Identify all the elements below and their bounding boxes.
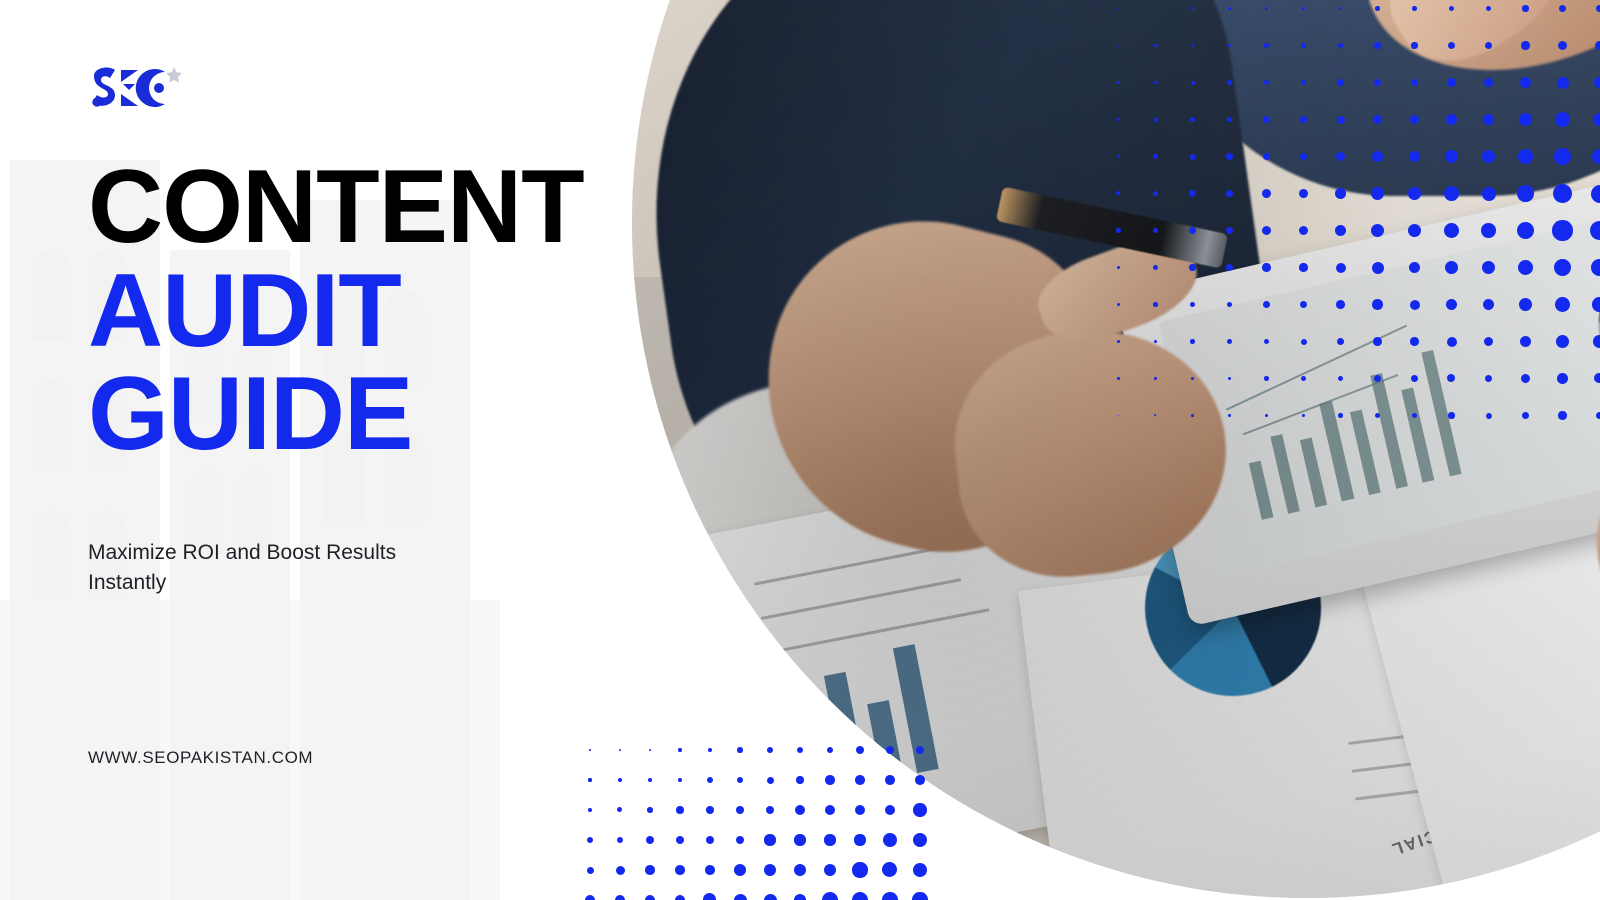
headline-line-2: AUDIT — [88, 264, 688, 360]
star-icon — [166, 67, 182, 83]
headline: CONTENT AUDIT GUIDE — [88, 160, 688, 463]
website-url[interactable]: WWW.SEOPAKISTAN.COM — [88, 748, 313, 768]
headline-line-3: GUIDE — [88, 367, 688, 463]
poster-canvas: FINANCIAL — [0, 0, 1600, 900]
hero-photo: FINANCIAL — [632, 0, 1600, 898]
headline-line-1: CONTENT — [88, 160, 688, 256]
subtitle: Maximize ROI and Boost Results Instantly — [88, 538, 448, 598]
seo-logo[interactable] — [88, 62, 184, 114]
